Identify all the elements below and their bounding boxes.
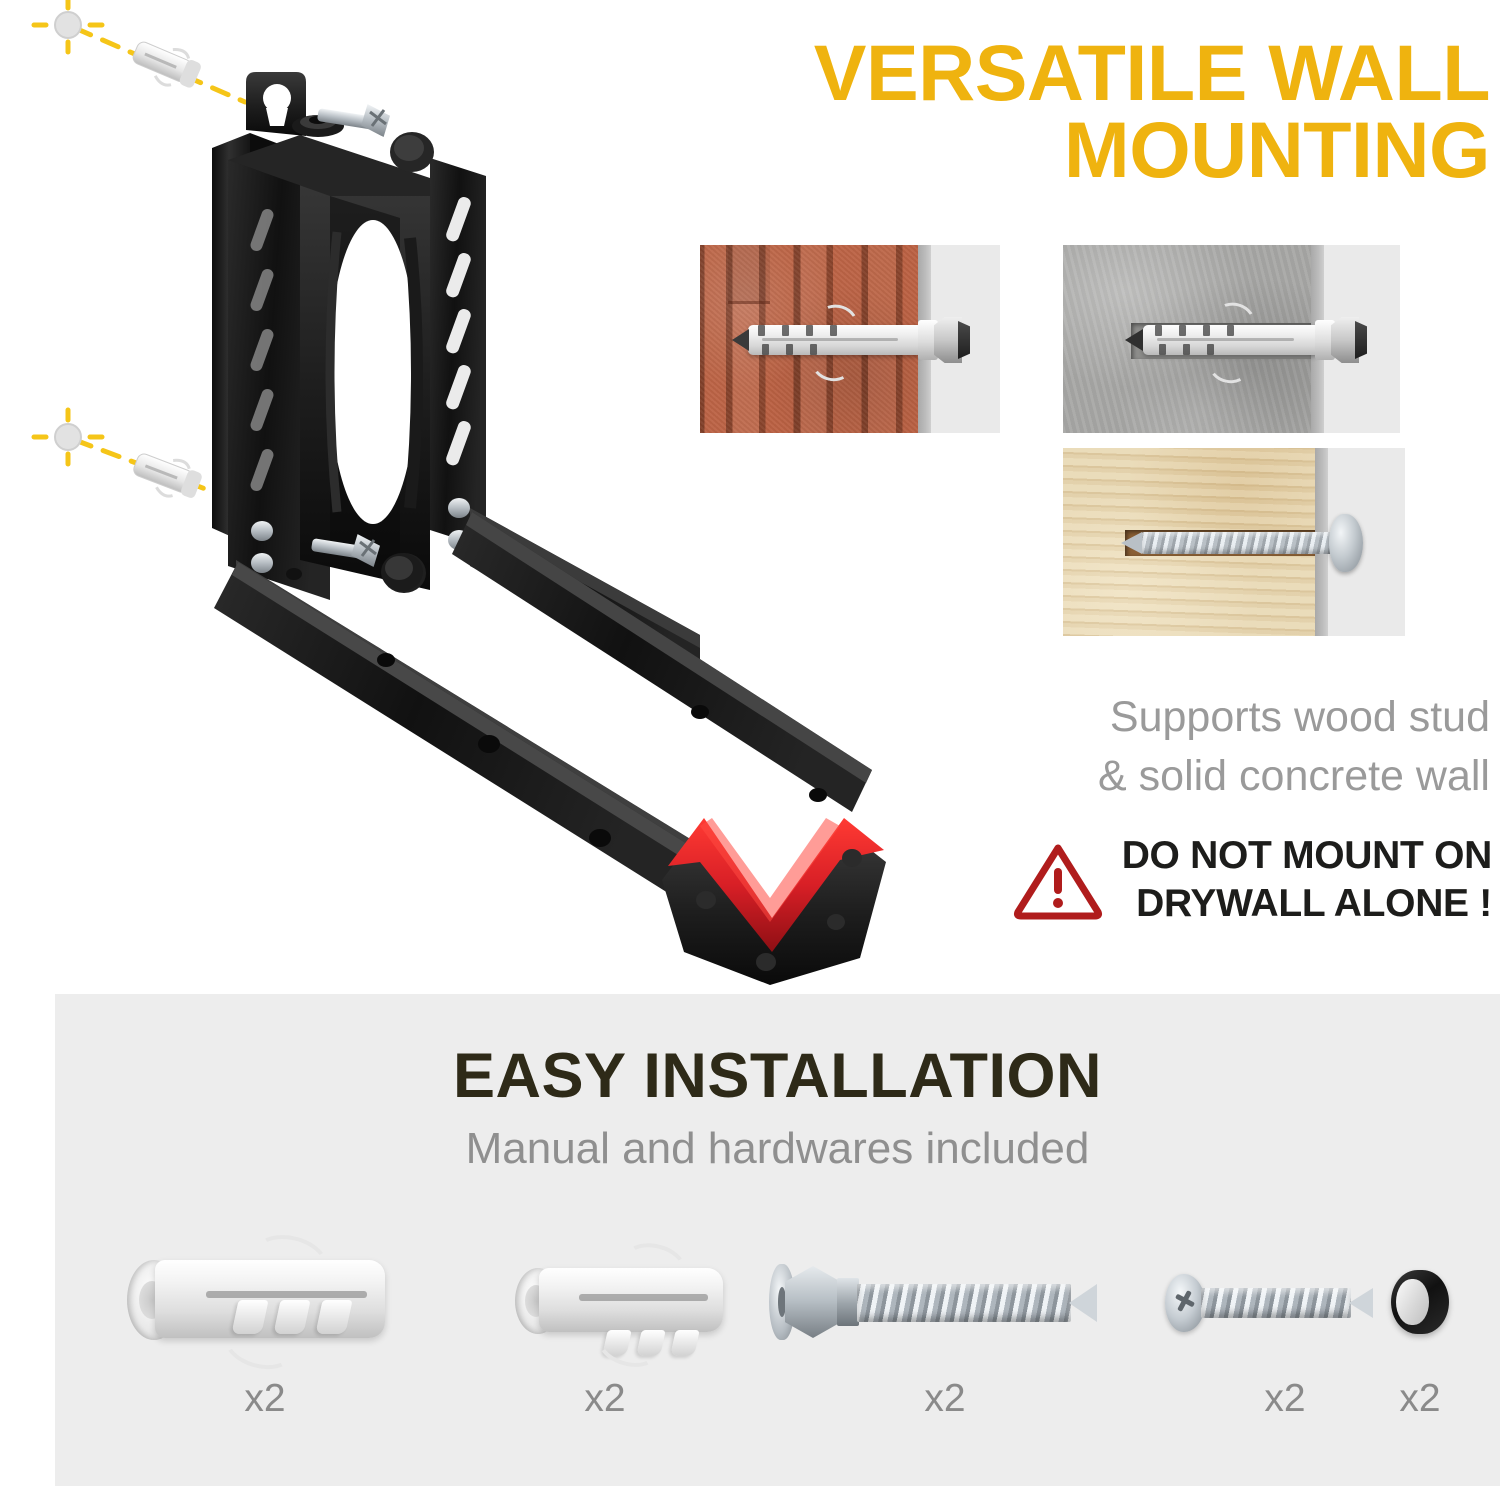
- warning-text: DO NOT MOUNT ON DRYWALL ALONE !: [1122, 832, 1492, 927]
- hanger-arm-assembly: [214, 508, 886, 985]
- wall-plate-assembly: [212, 72, 486, 600]
- brick-wall-panel: [700, 245, 1000, 433]
- hardware-item-large-wall-anchor: x2: [95, 1222, 435, 1452]
- guide-anchor-bottom: [129, 446, 205, 506]
- pivot-knob-upper: [390, 132, 434, 172]
- warning-line-1: DO NOT MOUNT ON: [1122, 832, 1492, 880]
- hardware-list: x2 x2: [55, 1222, 1500, 1452]
- hex-head-lag-screw-count: x2: [745, 1377, 1145, 1421]
- warning-triangle-icon: [1012, 840, 1104, 920]
- headline-line-1: VERSATILE WALL: [700, 34, 1490, 111]
- small-wall-anchor-icon: [455, 1222, 755, 1372]
- black-end-cap-icon: [1355, 1222, 1485, 1372]
- install-title: EASY INSTALLATION: [55, 1040, 1500, 1112]
- guide-anchor-top: [128, 34, 205, 95]
- black-end-cap-count: x2: [1355, 1377, 1485, 1421]
- small-wall-anchor-count: x2: [455, 1377, 755, 1421]
- drywall-warning: DO NOT MOUNT ON DRYWALL ALONE !: [920, 832, 1492, 927]
- hex-head-lag-screw-icon: [745, 1222, 1145, 1372]
- hardware-item-small-wall-anchor: x2: [455, 1222, 755, 1452]
- arm-hinge-knob: [381, 553, 423, 591]
- brick-seam: [728, 245, 769, 304]
- page-title: VERSATILE WALL MOUNTING: [700, 34, 1490, 189]
- large-wall-anchor-count: x2: [95, 1377, 435, 1421]
- hardware-item-hex-head-lag-screw: x2: [745, 1222, 1145, 1452]
- headline-line-2: MOUNTING: [700, 111, 1490, 188]
- hardware-item-black-end-cap: x2: [1355, 1222, 1485, 1452]
- warning-line-2: DRYWALL ALONE !: [1122, 880, 1492, 928]
- easy-installation-panel: EASY INSTALLATION Manual and hardwares i…: [55, 994, 1500, 1486]
- red-cradle-nose: [662, 818, 886, 985]
- wood-stud-panel: [1063, 448, 1405, 636]
- install-subtitle: Manual and hardwares included: [55, 1124, 1500, 1174]
- supports-text: Supports wood stud & solid concrete wall: [930, 688, 1490, 807]
- infographic-page: VERSATILE WALL MOUNTING: [0, 0, 1500, 1486]
- supports-line-1: Supports wood stud: [930, 688, 1490, 747]
- mount-guide-line-top: [34, 0, 245, 102]
- concrete-wall-panel: [1063, 245, 1400, 433]
- large-wall-anchor-icon: [95, 1222, 435, 1372]
- supports-line-2: & solid concrete wall: [930, 747, 1490, 806]
